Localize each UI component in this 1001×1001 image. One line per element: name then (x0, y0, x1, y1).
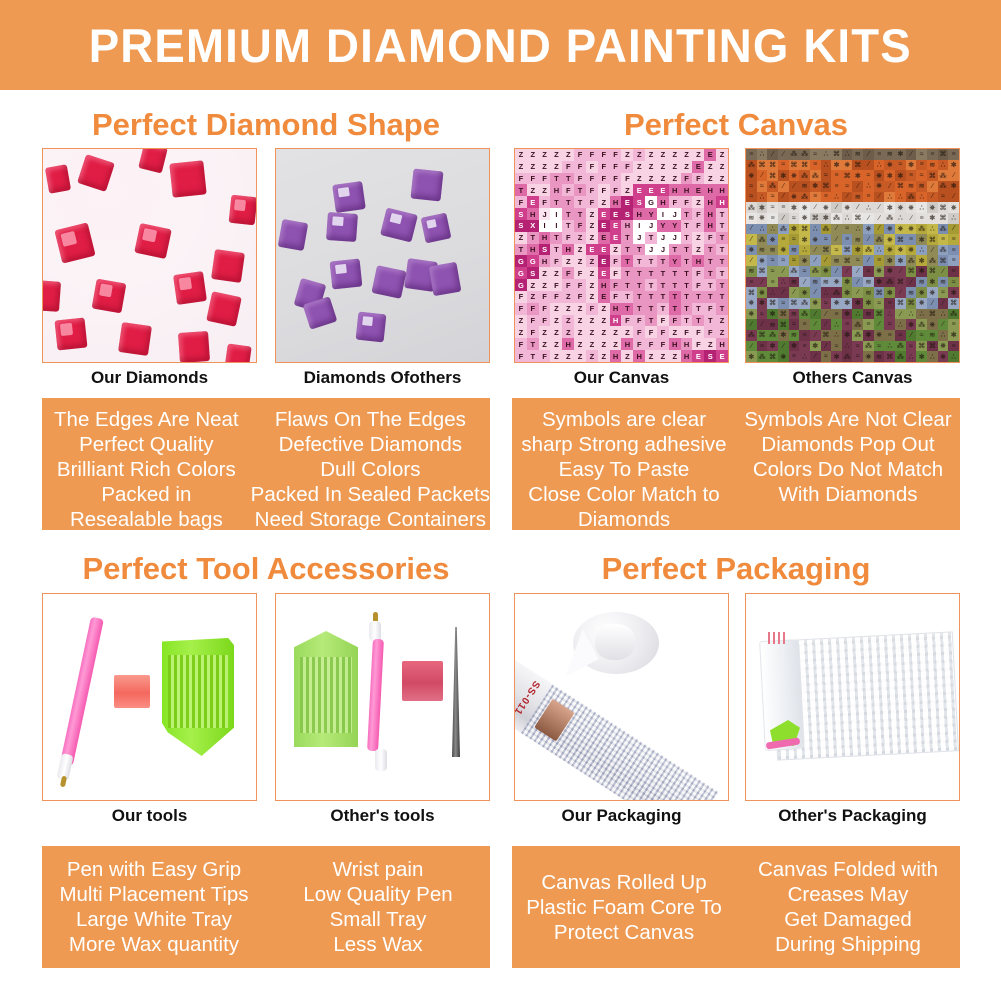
others-canvas-symbol-cell: ≡ (948, 245, 959, 256)
others-canvas-symbol-cell: ≡ (938, 234, 949, 245)
others-canvas-symbol-cell: ✵ (799, 287, 810, 298)
others-canvas-symbol-cell: ✱ (831, 351, 842, 362)
canvas-symbol-cell: Z (657, 173, 669, 185)
panel-line: Flaws On The Edges (275, 407, 466, 432)
others-canvas-symbol-cell: ⌘ (895, 181, 906, 192)
canvas-symbol-cell: T (681, 255, 693, 267)
panel-col-others-tools: Wrist pain Low Quality Pen Small Tray Le… (266, 846, 490, 968)
panel-col-others-diamonds: Flaws On The Edges Defective Diamonds Du… (251, 398, 490, 530)
others-canvas-symbol-cell: ≈ (767, 255, 778, 266)
others-canvas-symbol-cell: ∕ (746, 319, 757, 330)
others-canvas-symbol-cell: ∴ (863, 202, 874, 213)
others-canvas-symbol-cell: ≋ (916, 181, 927, 192)
section-title-tools: Perfect Tool Accessories (42, 551, 490, 587)
panel-col-our-diamonds: The Edges Are Neat Perfect Quality Brill… (42, 398, 251, 530)
others-canvas-symbol-cell: ≋ (874, 351, 885, 362)
canvas-symbol-cell: Z (550, 161, 562, 173)
image-our-diamonds (42, 148, 257, 363)
others-canvas-symbol-cell: ⌘ (767, 170, 778, 181)
canvas-symbol-cell: Z (539, 161, 551, 173)
canvas-symbol-cell: Z (645, 173, 657, 185)
canvas-symbol-cell: G (515, 267, 527, 279)
others-canvas-symbol-cell: ⁂ (863, 341, 874, 352)
others-canvas-symbol-cell: ∴ (842, 149, 853, 160)
canvas-symbol-cell: J (657, 244, 669, 256)
others-canvas-symbol-cell: ≈ (799, 266, 810, 277)
caption-our-tools: Our tools (42, 806, 257, 826)
others-canvas-symbol-cell: ✵ (810, 234, 821, 245)
others-canvas-symbol-cell: ✱ (916, 234, 927, 245)
canvas-symbol-cell: H (704, 220, 716, 232)
others-canvas-symbol-cell: ≡ (831, 181, 842, 192)
others-canvas-symbol-cell: ≈ (852, 255, 863, 266)
others-canvas-symbol-cell: ✱ (767, 341, 778, 352)
canvas-symbol-cell: F (586, 196, 598, 208)
others-canvas-symbol-cell: ≈ (916, 149, 927, 160)
canvas-symbol-cell: E (598, 267, 610, 279)
canvas-symbol-cell: Z (586, 255, 598, 267)
canvas-symbol-cell: S (515, 220, 527, 232)
others-canvas-symbol-cell: ✱ (746, 351, 757, 362)
canvas-symbol-cell: T (704, 291, 716, 303)
others-canvas-symbol-cell: ≡ (810, 160, 821, 171)
others-canvas-symbol-cell: ⁄ (852, 202, 863, 213)
panel-line: Resealable bags (70, 507, 223, 532)
canvas-symbol-cell: I (550, 208, 562, 220)
others-canvas-symbol-cell: ✵ (821, 266, 832, 277)
canvas-symbol-cell: Z (669, 161, 681, 173)
others-canvas-symbol-cell: ✵ (757, 287, 768, 298)
others-canvas-symbol-cell: ⌘ (938, 213, 949, 224)
others-canvas-symbol-cell: ≡ (927, 149, 938, 160)
panel-line: Need Storage Containers (255, 507, 486, 532)
red-diamond-bead (206, 291, 242, 327)
canvas-symbol-cell: S (539, 244, 551, 256)
others-canvas-symbol-cell: ⁂ (810, 266, 821, 277)
canvas-symbol-cell: Z (550, 267, 562, 279)
others-canvas-symbol-cell: ≈ (767, 266, 778, 277)
others-canvas-symbol-cell: ∕ (789, 181, 800, 192)
red-diamond-bead (45, 164, 71, 193)
others-canvas-symbol-cell: ∴ (821, 149, 832, 160)
canvas-symbol-cell: Z (621, 184, 633, 196)
others-canvas-symbol-cell: ∴ (810, 224, 821, 235)
canvas-symbol-cell: T (692, 291, 704, 303)
others-canvas-symbol-cell: ∕ (778, 266, 789, 277)
others-canvas-symbol-cell: ✱ (916, 351, 927, 362)
others-canvas-symbol-cell: ∕ (778, 341, 789, 352)
canvas-symbol-cell: T (574, 208, 586, 220)
canvas-symbol-cell: Z (586, 315, 598, 327)
canvas-symbol-cell: Z (610, 326, 622, 338)
others-canvas-symbol-cell: ∕ (852, 287, 863, 298)
canvas-symbol-cell: F (539, 196, 551, 208)
others-canvas-symbol-cell: ∴ (895, 192, 906, 203)
others-canvas-symbol-cell: ⁂ (767, 181, 778, 192)
others-canvas-symbol-cell: ✱ (757, 298, 768, 309)
canvas-symbol-cell: T (716, 291, 728, 303)
canvas-symbol-cell: Z (586, 267, 598, 279)
others-canvas-symbol-cell: ⌘ (852, 213, 863, 224)
others-canvas-symbol-cell: ∕ (810, 319, 821, 330)
others-canvas-symbol-cell: ✵ (874, 170, 885, 181)
canvas-symbol-cell: T (633, 291, 645, 303)
others-canvas-symbol-cell: ✵ (842, 202, 853, 213)
canvas-symbol-cell: F (586, 184, 598, 196)
canvas-symbol-cell: H (704, 184, 716, 196)
canvas-symbol-cell: H (550, 184, 562, 196)
others-canvas-symbol-cell: ✱ (863, 330, 874, 341)
others-canvas-symbol-cell: ≋ (810, 277, 821, 288)
caption-our-diamonds: Our Diamonds (42, 368, 257, 388)
canvas-symbol-cell: T (621, 279, 633, 291)
panel-col-others-canvas: Symbols Are Not Clear Diamonds Pop Out C… (736, 398, 960, 530)
others-canvas-symbol-cell: ≡ (778, 202, 789, 213)
others-canvas-symbol-cell: ≋ (757, 245, 768, 256)
canvas-symbol-cell: T (669, 291, 681, 303)
canvas-symbol-cell: Z (550, 338, 562, 350)
canvas-symbol-cell: E (598, 255, 610, 267)
canvas-symbol-cell: S (527, 267, 539, 279)
canvas-symbol-cell: T (633, 244, 645, 256)
others-canvas-symbol-cell: ∴ (916, 245, 927, 256)
others-canvas-symbol-cell: ⁄ (821, 309, 832, 320)
others-canvas-symbol-cell: ✵ (884, 245, 895, 256)
others-canvas-symbol-cell: ∴ (757, 224, 768, 235)
others-canvas-symbol-cell: ✱ (948, 330, 959, 341)
canvas-symbol-cell: F (692, 279, 704, 291)
canvas-symbol-cell: Z (645, 161, 657, 173)
purple-diamonds-art (276, 149, 489, 362)
canvas-symbol-cell: F (574, 161, 586, 173)
others-canvas-symbol-cell: ≈ (916, 330, 927, 341)
others-canvas-symbol-cell: ✱ (789, 224, 800, 235)
canvas-symbol-cell: H (610, 196, 622, 208)
others-canvas-symbol-cell: ✵ (778, 245, 789, 256)
others-canvas-symbol-cell: ⁂ (895, 351, 906, 362)
others-canvas-symbol-cell: ⁄ (789, 287, 800, 298)
canvas-symbol-cell: T (716, 255, 728, 267)
others-canvas-symbol-cell: ∕ (831, 224, 842, 235)
canvas-symbol-cell: F (574, 173, 586, 185)
canvas-symbol-cell: T (645, 291, 657, 303)
others-canvas-symbol-cell: ≡ (767, 277, 778, 288)
others-canvas-symbol-cell: ≈ (852, 341, 863, 352)
panel-line: Packed In Sealed Packets (251, 482, 490, 507)
panel-line: Dull Colors (320, 457, 420, 482)
others-canvas-symbol-cell: ≡ (767, 213, 778, 224)
others-canvas-symbol-cell: ⁂ (906, 192, 917, 203)
others-canvas-symbol-cell: ⌘ (842, 245, 853, 256)
canvas-symbol-cell: F (610, 267, 622, 279)
panel-col-our-canvas: Symbols are clear sharp Strong adhesive … (512, 398, 736, 530)
canvas-symbol-cell: Z (562, 303, 574, 315)
canvas-symbol-cell: T (562, 220, 574, 232)
canvas-symbol-cell: Z (657, 161, 669, 173)
canvas-symbol-cell: Z (562, 326, 574, 338)
others-canvas-symbol-cell: ∕ (746, 255, 757, 266)
canvas-symbol-cell: Z (574, 244, 586, 256)
caption-others-packaging: Other's Packaging (745, 806, 960, 826)
canvas-symbol-cell: I (657, 208, 669, 220)
panel-tools: Pen with Easy Grip Multi Placement Tips … (42, 846, 490, 968)
others-canvas-symbol-cell: ✵ (831, 277, 842, 288)
canvas-symbol-cell: Z (574, 326, 586, 338)
panel-line: Canvas Folded with (758, 857, 938, 882)
canvas-symbol-cell: T (681, 279, 693, 291)
canvas-symbol-cell: F (704, 303, 716, 315)
red-diamond-bead (138, 148, 168, 173)
others-canvas-symbol-cell: ≈ (842, 224, 853, 235)
others-canvas-symbol-cell: ⁂ (831, 287, 842, 298)
canvas-symbol-cell: J (657, 232, 669, 244)
canvas-symbol-cell: J (633, 232, 645, 244)
canvas-symbol-cell: H (633, 208, 645, 220)
others-canvas-symbol-cell: ≡ (746, 277, 757, 288)
others-canvas-symbol-cell: ∕ (831, 234, 842, 245)
others-canvas-symbol-cell: ✱ (842, 309, 853, 320)
panel-col-our-tools: Pen with Easy Grip Multi Placement Tips … (42, 846, 266, 968)
others-canvas-symbol-cell: ∕ (874, 202, 885, 213)
canvas-symbol-cell: J (539, 208, 551, 220)
canvas-symbol-cell: S (621, 208, 633, 220)
others-canvas-symbol-cell: ≈ (789, 213, 800, 224)
others-canvas-symbol-cell: ✵ (906, 245, 917, 256)
others-canvas-symbol-cell: ⁄ (778, 213, 789, 224)
canvas-symbol-cell: H (681, 350, 693, 362)
canvas-symbol-cell: F (562, 279, 574, 291)
canvas-symbol-cell: T (621, 267, 633, 279)
canvas-symbol-cell: Z (610, 244, 622, 256)
others-canvas-symbol-cell: ✱ (842, 277, 853, 288)
others-canvas-symbol-cell: ≋ (746, 213, 757, 224)
canvas-symbol-cell: F (692, 173, 704, 185)
purple-diamond-bead (332, 181, 366, 213)
others-canvas-symbol-cell: ⁄ (757, 277, 768, 288)
canvas-symbol-cell: Z (598, 350, 610, 362)
canvas-symbol-cell: F (515, 196, 527, 208)
others-canvas-symbol-cell: ≡ (842, 319, 853, 330)
others-canvas-symbol-cell: ⁄ (746, 224, 757, 235)
canvas-symbol-cell: F (681, 196, 693, 208)
others-canvas-symbol-cell: ✵ (895, 224, 906, 235)
canvas-symbol-cell: T (716, 220, 728, 232)
others-canvas-symbol-cell: ≋ (916, 277, 927, 288)
others-canvas-symbol-cell: ∴ (831, 330, 842, 341)
canvas-symbol-cell: Z (669, 173, 681, 185)
others-canvas-symbol-cell: ✵ (863, 224, 874, 235)
canvas-symbol-cell: T (621, 303, 633, 315)
others-canvas-symbol-cell: ✵ (927, 202, 938, 213)
canvas-symbol-cell: E (692, 350, 704, 362)
panel-diamond-shape: The Edges Are Neat Perfect Quality Brill… (42, 398, 490, 530)
canvas-symbol-cell: E (633, 184, 645, 196)
others-canvas-symbol-cell: ∴ (938, 330, 949, 341)
image-others-diamonds (275, 148, 490, 363)
others-canvas-symbol-cell: ≈ (789, 255, 800, 266)
canvas-symbol-cell: T (681, 267, 693, 279)
canvas-symbol-cell: T (645, 315, 657, 327)
canvas-symbol-cell: T (621, 255, 633, 267)
canvas-symbol-cell: Z (562, 149, 574, 161)
canvas-symbol-cell: H (539, 232, 551, 244)
canvas-symbol-cell: Y (669, 255, 681, 267)
canvas-symbol-cell: T (633, 303, 645, 315)
panel-line: Large White Tray (76, 907, 232, 932)
panel-line: Symbols are clear (542, 407, 706, 432)
canvas-symbol-cell: S (704, 350, 716, 362)
canvas-symbol-cell: Z (716, 315, 728, 327)
canvas-symbol-cell: F (621, 161, 633, 173)
canvas-symbol-cell: F (681, 326, 693, 338)
others-canvas-symbol-cell: ⌘ (842, 170, 853, 181)
caption-our-canvas: Our Canvas (514, 368, 729, 388)
others-canvas-symbol-cell: ⁂ (906, 255, 917, 266)
others-canvas-symbol-cell: ✱ (789, 341, 800, 352)
others-canvas-symbol-cell: ⌘ (767, 351, 778, 362)
others-canvas-symbol-cell: ∴ (938, 309, 949, 320)
others-canvas-symbol-cell: ⌘ (821, 181, 832, 192)
canvas-symbol-cell: Z (681, 149, 693, 161)
canvas-symbol-cell: Z (550, 350, 562, 362)
others-canvas-symbol-cell: ✱ (884, 266, 895, 277)
canvas-symbol-cell: E (610, 208, 622, 220)
others-canvas-symbol-cell: ∴ (757, 192, 768, 203)
others-canvas-symbol-cell: ⁄ (874, 319, 885, 330)
canvas-symbol-cell: F (562, 232, 574, 244)
red-diamond-bead (224, 343, 251, 363)
page-header: PREMIUM DIAMOND PAINTING KITS (0, 0, 1001, 90)
others-canvas-symbol-cell: ∴ (821, 287, 832, 298)
canvas-symbol-cell: Z (539, 149, 551, 161)
others-canvas-symbol-cell: ≈ (789, 234, 800, 245)
canvas-symbol-cell: T (645, 255, 657, 267)
others-canvas-symbol-cell: ∴ (938, 160, 949, 171)
others-canvas-symbol-cell: ✱ (863, 298, 874, 309)
others-canvas-symbol-cell: ✱ (799, 234, 810, 245)
others-canvas-symbol-cell: ✱ (895, 170, 906, 181)
others-canvas-symbol-cell: ⌘ (906, 266, 917, 277)
others-canvas-symbol-cell: ✱ (767, 309, 778, 320)
panel-line: Pen with Easy Grip (67, 857, 241, 882)
others-canvas-symbol-cell: ⁂ (746, 202, 757, 213)
others-canvas-symbol-cell: ⌘ (778, 319, 789, 330)
others-canvas-symbol-cell: ≈ (831, 341, 842, 352)
canvas-symbol-cell: Z (598, 315, 610, 327)
canvas-symbol-cell: I (539, 220, 551, 232)
others-canvas-symbol-cell: ⁄ (810, 330, 821, 341)
image-our-tools (42, 593, 257, 801)
canvas-symbol-cell: F (598, 161, 610, 173)
others-canvas-symbol-cell: ⌘ (874, 309, 885, 320)
others-canvas-symbol-cell: ≡ (757, 341, 768, 352)
others-canvas-symbol-cell: ⌘ (757, 266, 768, 277)
others-canvas-symbol-cell: ⁂ (863, 245, 874, 256)
panel-line: Creases May (788, 882, 909, 907)
canvas-symbol-cell: Z (574, 338, 586, 350)
panel-line: Diamonds Pop Out (761, 432, 934, 457)
others-canvas-symbol-cell: ⌘ (821, 245, 832, 256)
others-canvas-symbol-cell: ✱ (895, 149, 906, 160)
canvas-symbol-cell: T (681, 220, 693, 232)
canvas-symbol-cell: Z (515, 232, 527, 244)
canvas-symbol-cell: T (657, 303, 669, 315)
canvas-symbol-cell: T (515, 184, 527, 196)
others-canvas-symbol-cell: ⁄ (821, 319, 832, 330)
image-our-canvas: ZZZZZFFFFZZZZZZZEZZZZZFFFFFFZZZZZEZZFFFT… (514, 148, 729, 363)
others-canvas-symbol-cell: ≈ (778, 160, 789, 171)
canvas-symbol-cell: E (598, 232, 610, 244)
others-canvas-symbol-cell: ⁂ (799, 309, 810, 320)
others-canvas-symbol-cell: ✵ (874, 266, 885, 277)
canvas-symbol-cell: Z (574, 350, 586, 362)
others-canvas-symbol-cell: ✵ (831, 298, 842, 309)
others-canvas-symbol-cell: ∴ (778, 277, 789, 288)
purple-diamond-bead (330, 258, 363, 289)
others-canvas-symbol-cell: ∕ (810, 202, 821, 213)
canvas-symbol-cell: F (515, 303, 527, 315)
others-canvas-symbol-cell: ⁄ (810, 309, 821, 320)
others-canvas-symbol-cell: ⁄ (778, 181, 789, 192)
others-canvas-symbol-cell: ⌘ (821, 330, 832, 341)
others-canvas-symbol-cell: ≈ (821, 170, 832, 181)
others-canvas-symbol-cell: ✵ (799, 213, 810, 224)
others-canvas-symbol-cell: ⁂ (799, 149, 810, 160)
others-canvas-symbol-cell: ∕ (746, 341, 757, 352)
others-canvas-symbol-cell: ✵ (757, 255, 768, 266)
canvas-symbol-cell: F (574, 279, 586, 291)
others-canvas-symbol-cell: ≡ (789, 351, 800, 362)
others-canvas-symbol-cell: ⌘ (938, 255, 949, 266)
panel-line: Protect Canvas (554, 920, 694, 945)
canvas-symbol-cell: Z (550, 326, 562, 338)
canvas-symbol-cell: H (562, 244, 574, 256)
canvas-symbol-cell: T (704, 255, 716, 267)
others-canvas-symbol-cell: ⌘ (767, 160, 778, 171)
others-canvas-symbol-cell: ≋ (884, 149, 895, 160)
others-canvas-symbol-cell: ✵ (916, 298, 927, 309)
others-canvas-symbol-cell: ✵ (746, 170, 757, 181)
others-canvas-symbol-cell: ⌘ (927, 234, 938, 245)
canvas-symbol-cell: F (704, 326, 716, 338)
canvas-symbol-cell: E (704, 149, 716, 161)
canvas-symbol-cell: H (562, 338, 574, 350)
others-canvas-symbol-cell: ∴ (831, 192, 842, 203)
others-canvas-symbol-cell: ✱ (852, 170, 863, 181)
others-canvas-symbol-cell: ≡ (746, 149, 757, 160)
panel-line: sharp Strong adhesive (521, 432, 726, 457)
purple-diamond-bead (356, 312, 387, 343)
others-canvas-symbol-cell: ⌘ (789, 298, 800, 309)
others-canvas-symbol-cell: ∕ (863, 160, 874, 171)
canvas-symbol-cell: E (657, 184, 669, 196)
mailer-tab-icon (768, 632, 786, 644)
others-canvas-symbol-cell: ≋ (767, 319, 778, 330)
others-canvas-symbol-cell: ∴ (767, 224, 778, 235)
others-canvas-symbol-cell: ✱ (757, 202, 768, 213)
canvas-symbol-cell: F (539, 291, 551, 303)
others-canvas-symbol-cell: ⁂ (916, 319, 927, 330)
others-canvas-symbol-cell: ∴ (852, 309, 863, 320)
others-canvas-symbol-cell: ≋ (767, 245, 778, 256)
others-canvas-symbol-cell: ✱ (916, 266, 927, 277)
others-canvas-symbol-cell: ✵ (789, 170, 800, 181)
others-canvas-symbol-cell: ≈ (746, 192, 757, 203)
canvas-symbol-cell: E (692, 184, 704, 196)
others-canvas-symbol-cell: ≈ (906, 341, 917, 352)
others-canvas-symbol-cell: ≡ (948, 341, 959, 352)
others-canvas-symbol-cell: ⌘ (927, 309, 938, 320)
